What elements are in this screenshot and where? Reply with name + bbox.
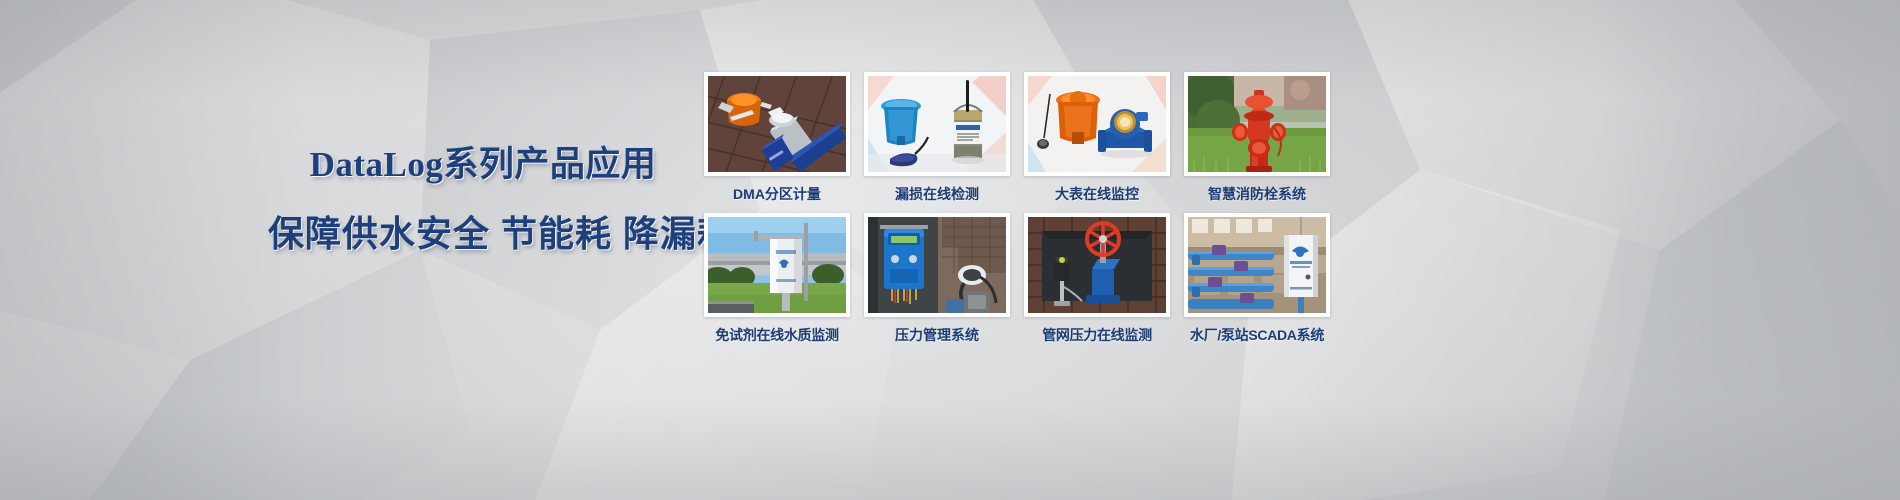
product-card-water-quality[interactable]: 免试剂在线水质监测 (704, 213, 850, 344)
product-card-network-pressure[interactable]: 管网压力在线监测 (1024, 213, 1170, 344)
pressure-management-icon (868, 217, 1006, 313)
product-label: 智慧消防栓系统 (1208, 185, 1306, 203)
product-thumbnail[interactable] (1024, 213, 1170, 317)
headline-line-2: 保障供水安全 节能耗 降漏耗 (268, 210, 698, 258)
scada-system-icon (1188, 217, 1326, 313)
product-card-leak-detection[interactable]: 漏损在线检测 (864, 72, 1010, 203)
product-thumbnail[interactable] (704, 72, 850, 176)
product-label: 大表在线监控 (1055, 185, 1139, 203)
product-thumbnail[interactable] (704, 213, 850, 317)
promo-banner: DataLog系列产品应用 保障供水安全 节能耗 降漏耗 (0, 0, 1900, 500)
product-label: 漏损在线检测 (895, 185, 979, 203)
leak-detection-icon (868, 76, 1006, 172)
product-card-large-meter[interactable]: 大表在线监控 (1024, 72, 1170, 203)
network-pressure-icon (1028, 217, 1166, 313)
product-card-scada-system[interactable]: 水厂/泵站SCADA系统 (1184, 213, 1330, 344)
product-card-dma-metering[interactable]: DMA分区计量 (704, 72, 850, 203)
product-thumbnail[interactable] (864, 213, 1010, 317)
water-quality-icon (708, 217, 846, 313)
product-thumbnail[interactable] (1184, 72, 1330, 176)
product-card-pressure-management[interactable]: 压力管理系统 (864, 213, 1010, 344)
smart-hydrant-icon (1188, 76, 1326, 172)
product-thumbnail[interactable] (1024, 72, 1170, 176)
product-label: 免试剂在线水质监测 (715, 326, 838, 344)
dma-metering-icon (708, 76, 846, 172)
product-label: 管网压力在线监测 (1042, 326, 1152, 344)
headline-line-1: DataLog系列产品应用 (268, 142, 698, 188)
product-card-smart-hydrant[interactable]: 智慧消防栓系统 (1184, 72, 1330, 203)
product-thumbnail[interactable] (864, 72, 1010, 176)
headline-block: DataLog系列产品应用 保障供水安全 节能耗 降漏耗 (268, 142, 698, 258)
product-grid: DMA分区计量 (704, 72, 1330, 344)
product-label: 压力管理系统 (895, 326, 979, 344)
product-label: 水厂/泵站SCADA系统 (1190, 326, 1324, 344)
product-thumbnail[interactable] (1184, 213, 1330, 317)
large-meter-monitor-icon (1028, 76, 1166, 172)
product-label: DMA分区计量 (733, 185, 821, 203)
